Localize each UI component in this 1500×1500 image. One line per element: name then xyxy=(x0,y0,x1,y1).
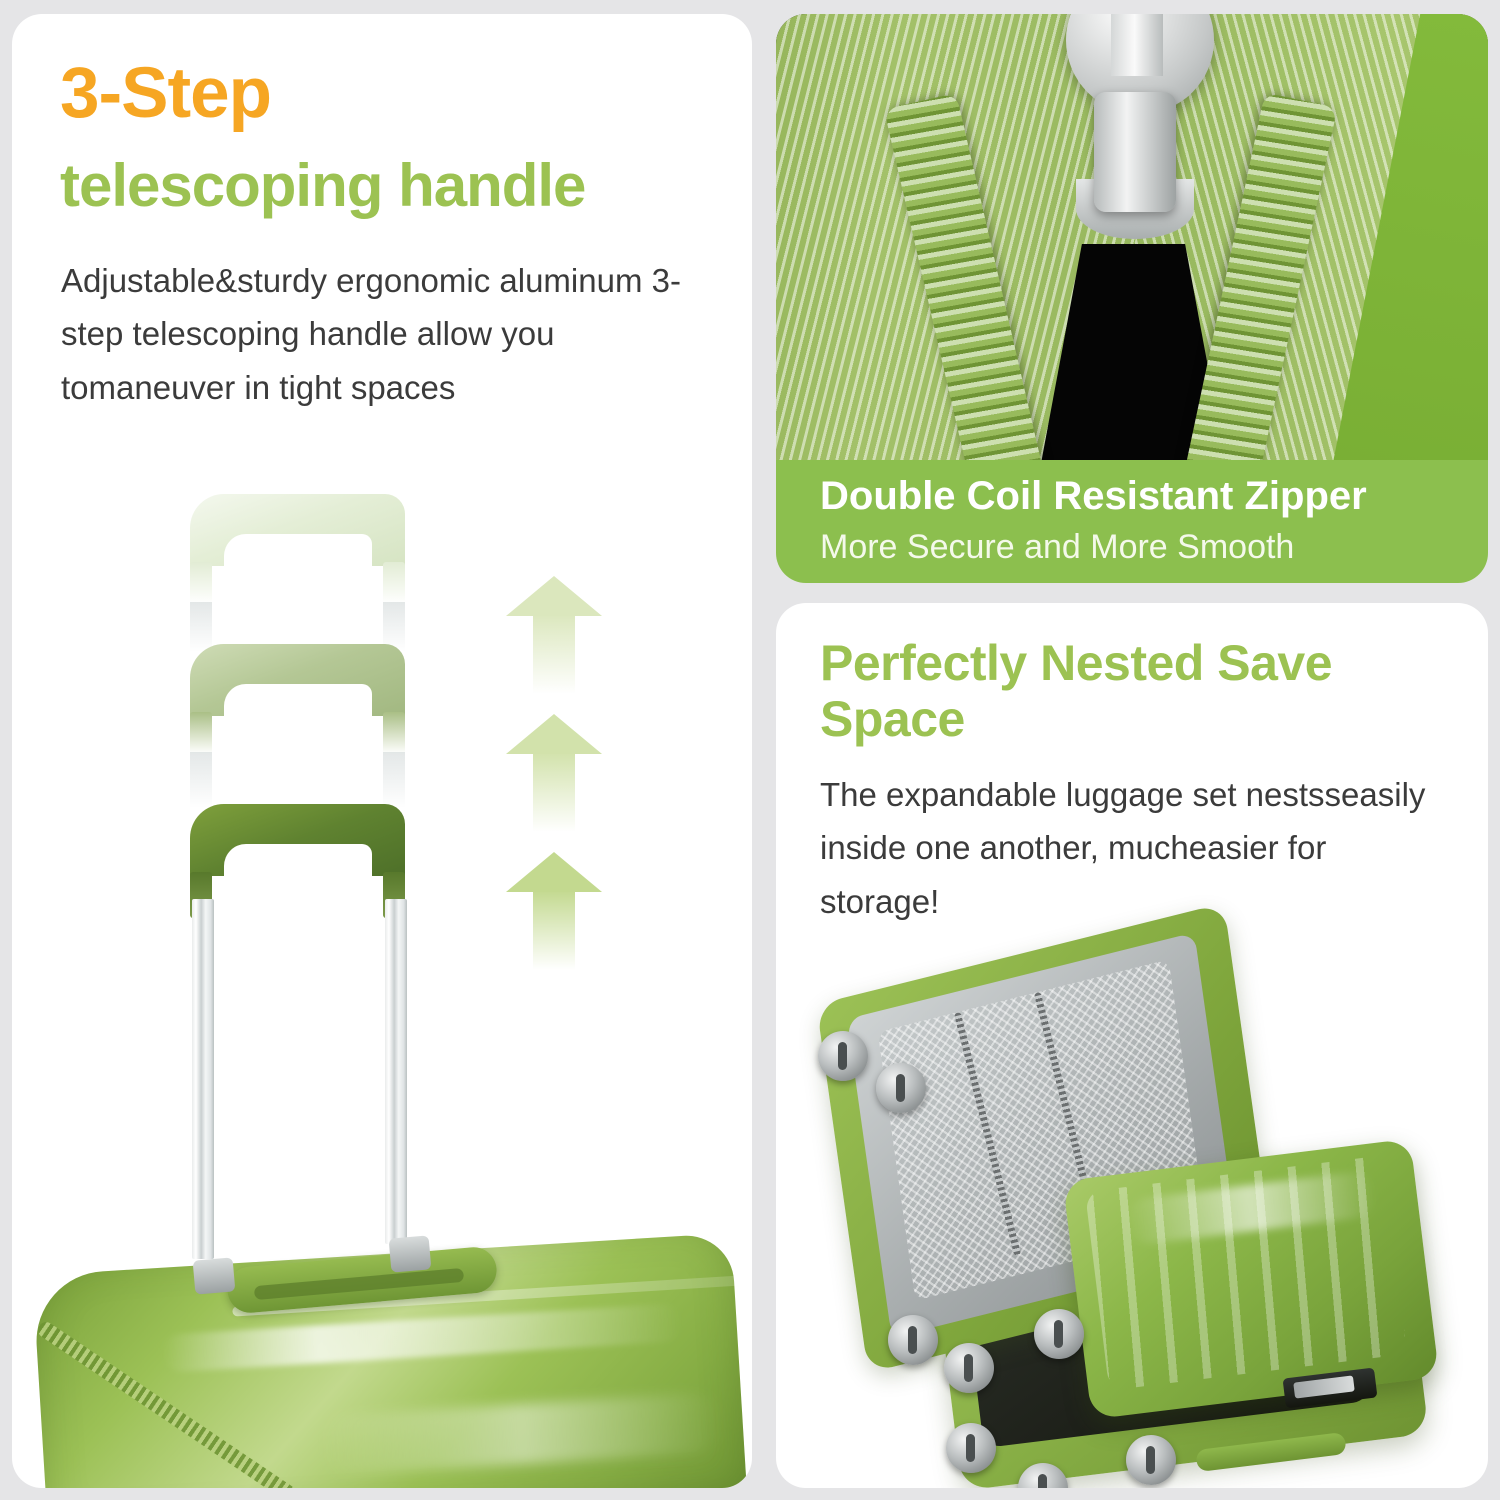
zipper-subtitle: More Secure and More Smooth xyxy=(820,528,1294,567)
ghost-rod-right-2 xyxy=(383,752,405,808)
nested-body-text: The expandable luggage set nestsseasily … xyxy=(820,768,1430,928)
handle-grip-3 xyxy=(190,804,405,876)
spinner-wheel xyxy=(1126,1435,1176,1485)
arrow-up-icon-1 xyxy=(506,576,602,694)
arrow-head-1 xyxy=(506,576,602,616)
handle-leg-left-1 xyxy=(190,562,212,604)
spinner-wheel xyxy=(876,1063,926,1113)
suitcase-photo xyxy=(22,1199,752,1488)
arrow-up-icon-2 xyxy=(506,714,602,832)
spinner-wheel xyxy=(888,1315,938,1365)
arrow-head-2 xyxy=(506,714,602,754)
handle-body-text: Adjustable&sturdy ergonomic aluminum 3-s… xyxy=(61,254,681,414)
ghost-rod-left-1 xyxy=(190,602,212,652)
arrow-shaft-1 xyxy=(533,614,575,694)
spinner-wheel xyxy=(944,1343,994,1393)
zipper-title: Double Coil Resistant Zipper xyxy=(820,474,1367,519)
telescoping-rod-right xyxy=(385,899,407,1244)
arrow-shaft-2 xyxy=(533,752,575,832)
headline-accent: 3-Step xyxy=(60,58,271,129)
rod-socket-left xyxy=(193,1257,236,1294)
spinner-wheel xyxy=(1034,1309,1084,1359)
ghost-rod-left-2 xyxy=(190,752,212,808)
nested-title: Perfectly Nested Save Space xyxy=(820,635,1450,747)
spinner-wheel xyxy=(946,1423,996,1473)
zipper-closeup-photo xyxy=(776,14,1488,460)
arrow-shaft-3 xyxy=(533,890,575,970)
infographic-page: 3-Step telescoping handle Adjustable&stu… xyxy=(0,0,1500,1500)
handle-leg-right-2 xyxy=(383,712,405,754)
zipper-slider-neck xyxy=(1094,92,1176,212)
panel-nested-space: Perfectly Nested Save Space The expandab… xyxy=(776,603,1488,1488)
spinner-wheel xyxy=(818,1031,868,1081)
nested-luggage-photo xyxy=(796,923,1476,1483)
handle-leg-left-2 xyxy=(190,712,212,754)
handle-grip-1 xyxy=(190,494,405,566)
zipper-caption-band: Double Coil Resistant Zipper More Secure… xyxy=(776,460,1488,583)
zipper-slider-ridge xyxy=(1111,14,1163,76)
arrow-head-3 xyxy=(506,852,602,892)
arrow-up-icon-3 xyxy=(506,852,602,970)
panel-telescoping-handle: 3-Step telescoping handle Adjustable&stu… xyxy=(12,14,752,1488)
handle-leg-right-1 xyxy=(383,562,405,604)
handle-grip-2 xyxy=(190,644,405,716)
panel-zipper: Double Coil Resistant Zipper More Secure… xyxy=(776,14,1488,583)
headline-main: telescoping handle xyxy=(60,154,585,217)
rod-socket-right xyxy=(389,1235,432,1272)
